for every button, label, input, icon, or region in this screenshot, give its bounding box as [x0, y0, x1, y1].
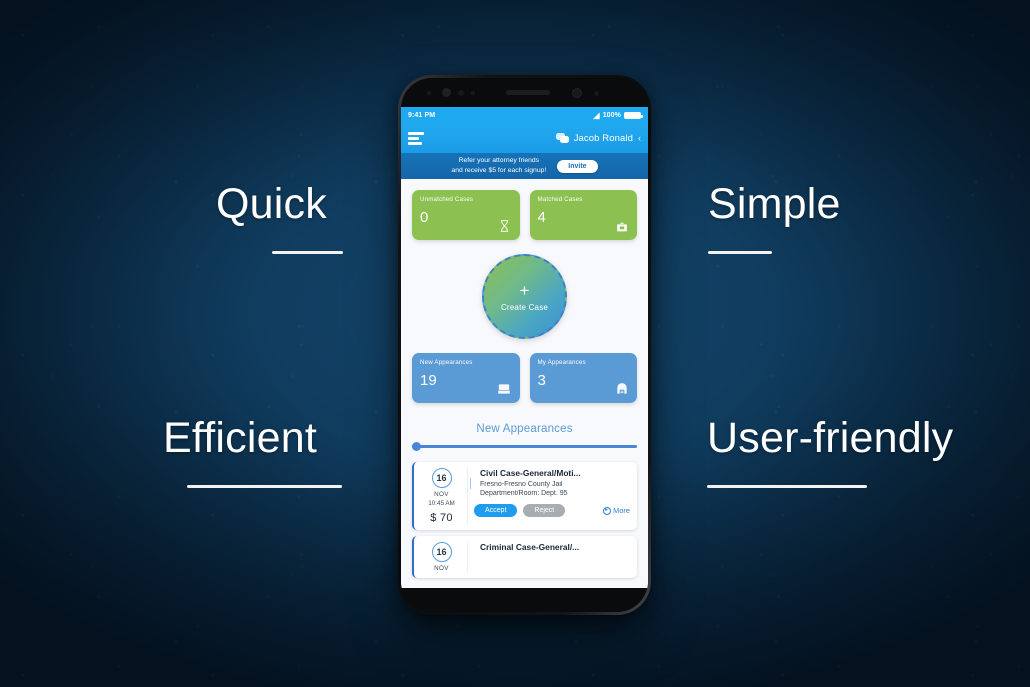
case-list: 16 NOV 10:45 AM $ 70 Civil Case-General/… — [412, 462, 637, 578]
case-location: Fresno-Fresno County Jail — [480, 481, 630, 488]
card-new-appearances[interactable]: New Appearances 19 — [412, 353, 520, 403]
card-my-appearances[interactable]: My Appearances 3 — [530, 353, 638, 403]
user-name-label: Jacob Ronald — [574, 133, 633, 144]
hourglass-icon — [497, 218, 512, 233]
chevron-right-icon: ▸ — [603, 507, 611, 515]
referral-banner: Refer your attorney friends and receive … — [401, 153, 648, 179]
case-month: NOV — [434, 565, 449, 572]
battery-percent-label: 100% — [603, 112, 621, 119]
header-user-area: Jacob Ronald ‹ — [556, 133, 641, 144]
status-indicators: ◢ 100% — [593, 112, 641, 120]
card-label: Matched Cases — [538, 196, 630, 203]
section-title: New Appearances — [412, 423, 637, 435]
headline-rule-quick — [272, 251, 343, 254]
case-time: 10:45 AM — [428, 500, 455, 507]
reject-button[interactable]: Reject — [523, 504, 565, 517]
case-details: Civil Case-General/Moti... Fresno-Fresno… — [468, 468, 630, 524]
gavel-case-icon — [614, 381, 629, 396]
more-button[interactable]: ▸ More — [603, 506, 630, 515]
battery-full-icon — [624, 112, 641, 119]
phone-top-bezel — [401, 78, 648, 107]
case-actions: Accept Reject ▸ More — [474, 504, 630, 517]
headline-rule-simple — [708, 251, 772, 254]
referral-line-2: and receive $5 for each signup! — [451, 167, 546, 174]
status-bar: 9:41 PM ◢ 100% — [401, 107, 648, 124]
phone-screen: 9:41 PM ◢ 100% — [401, 107, 648, 588]
case-price: $ 70 — [430, 512, 453, 524]
case-card[interactable]: 16 NOV 10:45 AM $ 70 Civil Case-General/… — [412, 462, 637, 530]
case-day: 16 — [432, 542, 452, 562]
create-case-area: + Create Case — [412, 254, 637, 339]
earpiece-speaker-icon — [506, 90, 550, 95]
invite-button[interactable]: Invite — [557, 160, 597, 173]
chat-bubbles-icon[interactable] — [556, 133, 569, 144]
case-date-block: 16 NOV — [420, 542, 468, 572]
headline-rule-efficient — [187, 485, 342, 488]
referral-text: Refer your attorney friends and receive … — [451, 156, 546, 175]
case-date-block: 16 NOV 10:45 AM $ 70 — [420, 468, 468, 524]
card-unmatched-cases[interactable]: Unmatched Cases 0 — [412, 190, 520, 240]
slider-knob[interactable] — [412, 442, 421, 451]
case-details: Criminal Case-General/... — [468, 542, 630, 572]
app-content: Unmatched Cases 0 Matched — [401, 179, 648, 588]
headline-simple: Simple — [708, 180, 841, 229]
phone-bottom-bezel — [401, 588, 648, 612]
card-label: Unmatched Cases — [420, 196, 512, 203]
case-title: Civil Case-General/Moti... — [480, 468, 630, 478]
case-month: NOV — [434, 491, 449, 498]
accept-button[interactable]: Accept — [474, 504, 517, 517]
create-case-label: Create Case — [501, 303, 548, 312]
proximity-sensor-icon — [442, 88, 451, 97]
slider-track[interactable] — [412, 445, 637, 447]
case-department: Department/Room: Dept. 95 — [480, 490, 630, 497]
case-title: Criminal Case-General/... — [480, 542, 630, 552]
headline-rule-user-friendly — [707, 485, 867, 488]
wifi-icon: ◢ — [593, 112, 599, 120]
hamburger-menu-icon[interactable] — [408, 132, 424, 145]
card-matched-cases[interactable]: Matched Cases 4 — [530, 190, 638, 240]
referral-line-1: Refer your attorney friends — [459, 157, 539, 164]
sensor-dot-icon — [471, 91, 475, 95]
status-time: 9:41 PM — [408, 112, 435, 119]
sensor-dot-icon — [427, 91, 431, 95]
headline-user-friendly: User-friendly — [707, 414, 953, 463]
case-day: 16 — [432, 468, 452, 488]
new-appearances-section: New Appearances — [412, 423, 637, 451]
back-chevron-icon[interactable]: ‹ — [638, 134, 641, 143]
create-case-button[interactable]: + Create Case — [482, 254, 567, 339]
headline-quick: Quick — [216, 180, 327, 229]
inbox-download-icon — [497, 381, 512, 396]
phone-mockup: 9:41 PM ◢ 100% — [398, 75, 651, 615]
front-camera-icon — [572, 88, 582, 98]
promo-banner: Quick Simple Efficient User-friendly 9:4… — [0, 0, 1030, 687]
briefcase-scales-icon — [614, 218, 629, 233]
stats-row-unmatched-matched: Unmatched Cases 0 Matched — [412, 190, 637, 240]
plus-icon: + — [520, 282, 530, 299]
timeline-connector-icon — [470, 478, 471, 489]
light-sensor-icon — [458, 90, 464, 96]
card-label: My Appearances — [538, 359, 630, 366]
card-label: New Appearances — [420, 359, 512, 366]
phone-body: 9:41 PM ◢ 100% — [401, 78, 648, 612]
headline-efficient: Efficient — [163, 414, 317, 463]
stats-row-appearances: New Appearances 19 My App — [412, 353, 637, 403]
sensor-dot-icon — [594, 91, 599, 96]
more-label: More — [613, 506, 630, 515]
appearances-slider[interactable] — [412, 442, 637, 451]
app-header: Jacob Ronald ‹ — [401, 124, 648, 153]
case-card[interactable]: 16 NOV Criminal Case-General/... — [412, 536, 637, 578]
